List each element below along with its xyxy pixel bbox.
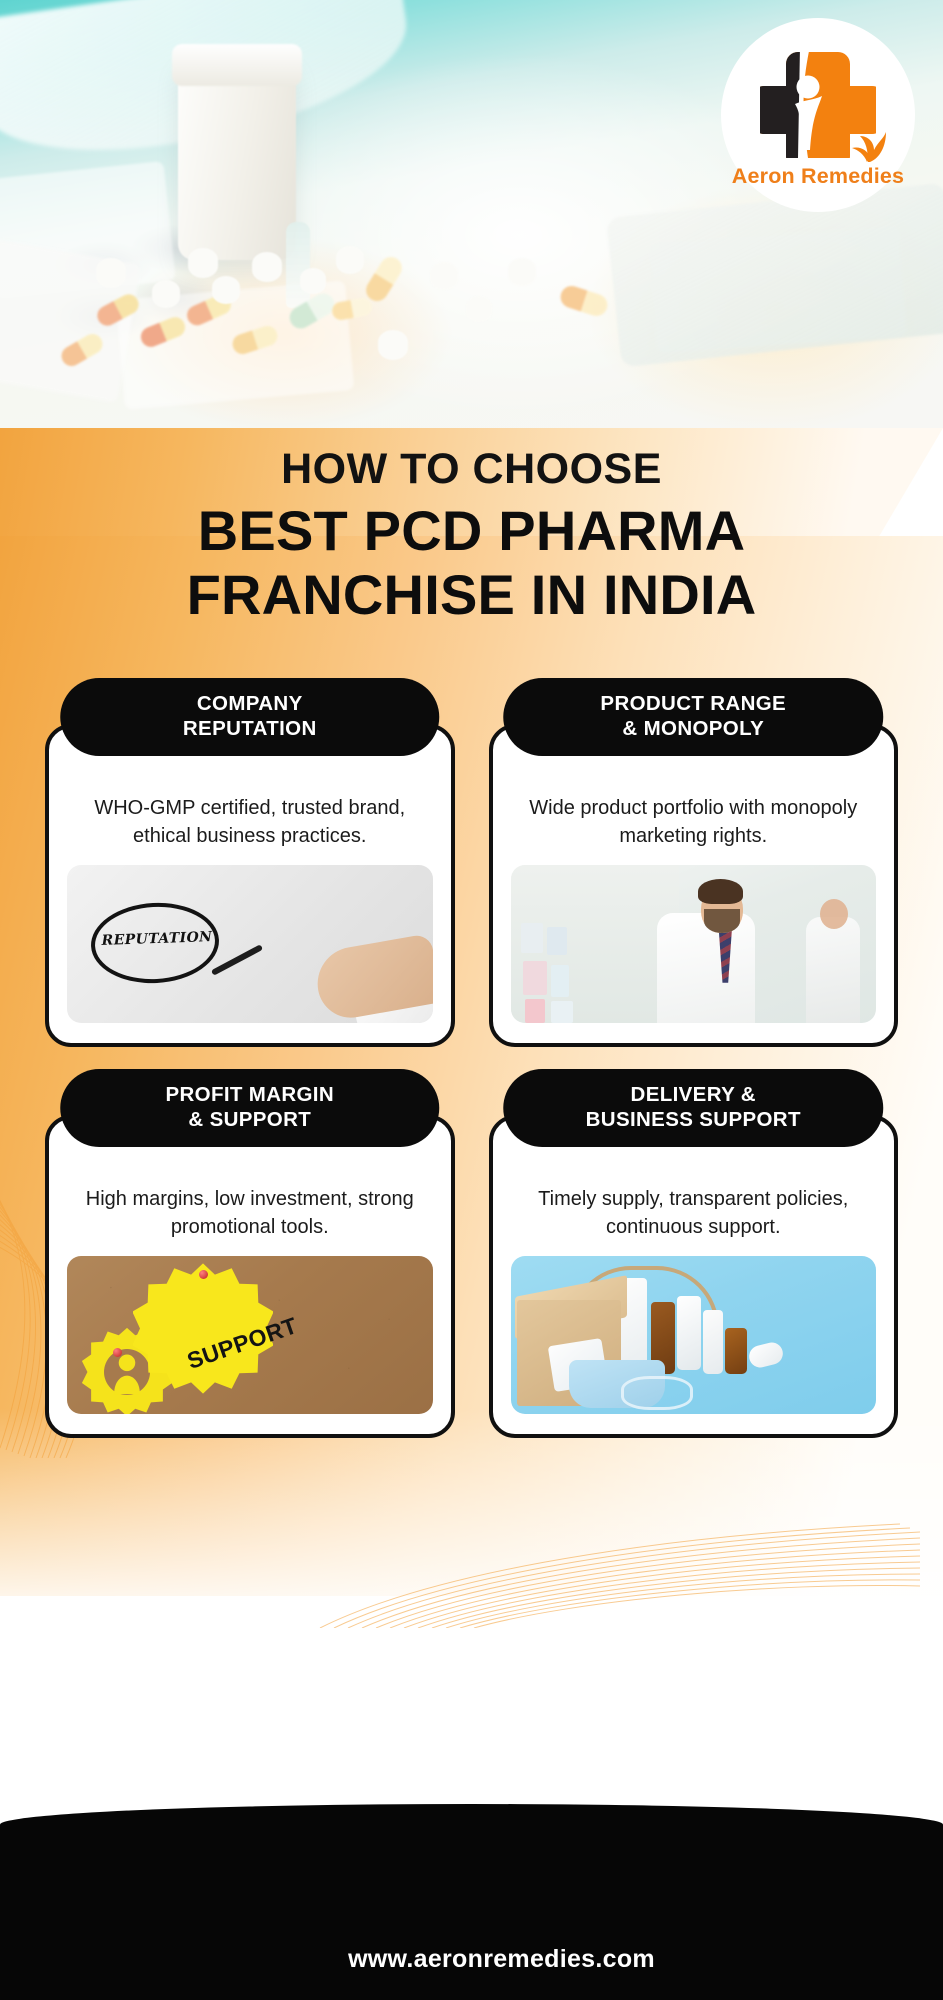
- tablet-icon: [300, 268, 326, 294]
- tablet-icon: [508, 258, 536, 286]
- card-heading-line-2: BUSINESS SUPPORT: [526, 1107, 862, 1132]
- card-header-badge: PRODUCT RANGE & MONOPOLY: [504, 678, 884, 756]
- hair-shape: [698, 879, 743, 904]
- leaf-icon: [848, 124, 888, 164]
- tablet-icon: [212, 276, 240, 304]
- ampoule-icon: [286, 222, 310, 308]
- title-line-2: BEST PCD PHARMA: [0, 499, 943, 563]
- medicine-box-icon: [523, 961, 547, 995]
- footer-black-bar: [0, 1850, 943, 2000]
- aeron-remedies-cross-icon: [760, 46, 876, 158]
- card-heading-line-1: PROFIT MARGIN: [82, 1082, 418, 1107]
- tablet-icon: [96, 258, 126, 288]
- pharmacist-in-pharmacy-image: [511, 865, 877, 1023]
- medicine-box-icon: [551, 965, 569, 997]
- pen-icon: [211, 944, 263, 976]
- assistant-face: [820, 899, 848, 929]
- tablet-icon: [430, 262, 458, 290]
- card-heading-line-1: DELIVERY &: [526, 1082, 862, 1107]
- title-line-3: FRANCHISE IN INDIA: [0, 563, 943, 627]
- card-description: Timely supply, transparent policies, con…: [511, 1185, 877, 1242]
- medicine-delivery-box-image: [511, 1256, 877, 1414]
- hero-photo-banner: Aeron Remedies: [0, 0, 943, 428]
- card-heading-line-1: COMPANY: [82, 691, 418, 716]
- tablet-icon: [252, 252, 282, 282]
- card-body: Wide product portfolio with monopoly mar…: [489, 724, 899, 1047]
- card-product-range-monopoly[interactable]: PRODUCT RANGE & MONOPOLY Wide product po…: [489, 672, 899, 1047]
- medicine-box-icon: [547, 927, 567, 955]
- pill-bottle-icon: [677, 1296, 701, 1370]
- card-heading-line-1: PRODUCT RANGE: [526, 691, 862, 716]
- logo-badge[interactable]: Aeron Remedies: [721, 18, 915, 212]
- card-company-reputation[interactable]: COMPANY REPUTATION WHO-GMP certified, tr…: [45, 672, 455, 1047]
- card-body: WHO-GMP certified, trusted brand, ethica…: [45, 724, 455, 1047]
- card-profit-margin-support[interactable]: PROFIT MARGIN & SUPPORT High margins, lo…: [45, 1063, 455, 1438]
- footer: www.aeronremedies.com: [0, 1640, 943, 2000]
- feature-cards-grid: COMPANY REPUTATION WHO-GMP certified, tr…: [0, 672, 943, 1438]
- website-url[interactable]: www.aeronremedies.com: [0, 1945, 943, 1974]
- infographic-page: Aeron Remedies: [0, 0, 943, 2000]
- decorative-line-fan-bottom: [300, 1428, 920, 1628]
- card-header-badge: DELIVERY & BUSINESS SUPPORT: [504, 1069, 884, 1147]
- lab-coat-shape: [657, 913, 755, 1023]
- tablet-icon: [378, 330, 408, 360]
- card-heading-line-2: REPUTATION: [82, 716, 418, 741]
- beard-shape: [704, 909, 740, 933]
- medicine-box-icon: [551, 1001, 573, 1023]
- card-header-badge: PROFIT MARGIN & SUPPORT: [60, 1069, 440, 1147]
- support-gears-corkboard-image: SUPPORT: [67, 1256, 433, 1414]
- card-delivery-business-support[interactable]: DELIVERY & BUSINESS SUPPORT Timely suppl…: [489, 1063, 899, 1438]
- pill-bottle-icon: [178, 60, 296, 260]
- medicine-box-icon: [521, 923, 543, 953]
- assistant-figure: [806, 917, 860, 1023]
- card-heading-line-2: & SUPPORT: [82, 1107, 418, 1132]
- tablet-icon: [466, 296, 492, 322]
- nasal-spray-icon: [703, 1310, 723, 1374]
- card-description: Wide product portfolio with monopoly mar…: [511, 794, 877, 851]
- title-line-1: HOW TO CHOOSE: [0, 448, 943, 491]
- pushpin-icon: [113, 1348, 122, 1357]
- tablet-icon: [336, 246, 364, 274]
- card-body: High margins, low investment, strong pro…: [45, 1115, 455, 1438]
- pushpin-icon: [199, 1270, 208, 1279]
- card-header-badge: COMPANY REPUTATION: [60, 678, 440, 756]
- tube-icon: [746, 1340, 784, 1370]
- card-description: High margins, low investment, strong pro…: [67, 1185, 433, 1242]
- card-description: WHO-GMP certified, trusted brand, ethica…: [67, 794, 433, 851]
- tablet-icon: [188, 248, 218, 278]
- amber-bottle-icon: [725, 1328, 747, 1374]
- mask-strap-icon: [621, 1376, 693, 1410]
- page-title: HOW TO CHOOSE BEST PCD PHARMA FRANCHISE …: [0, 448, 943, 627]
- card-heading-line-2: & MONOPOLY: [526, 716, 862, 741]
- logo-brand-name: Aeron Remedies: [732, 164, 904, 189]
- reputation-whiteboard-image: REPUTATION: [67, 865, 433, 1023]
- medicine-box-icon: [525, 999, 545, 1023]
- card-body: Timely supply, transparent policies, con…: [489, 1115, 899, 1438]
- tablet-icon: [152, 280, 180, 308]
